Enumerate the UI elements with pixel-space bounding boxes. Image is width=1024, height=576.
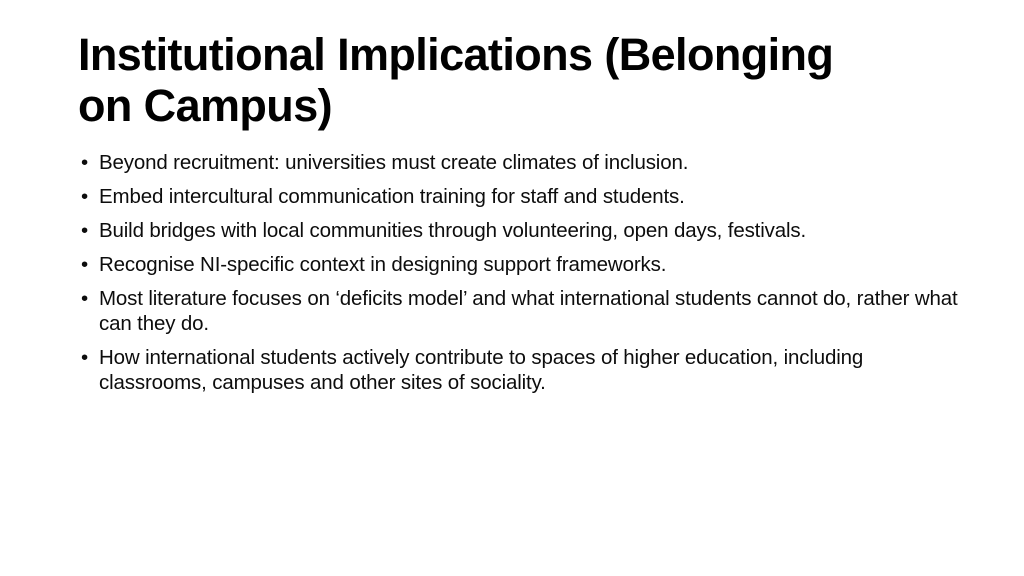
list-item-text: Recognise NI-specific context in designi…: [99, 252, 963, 277]
list-item-text: Most literature focuses on ‘deficits mod…: [99, 286, 963, 336]
bullet-point-icon: •: [81, 286, 88, 311]
list-item: • Embed intercultural communication trai…: [78, 184, 963, 209]
list-item: • Most literature focuses on ‘deficits m…: [78, 286, 963, 336]
bullet-point-icon: •: [81, 184, 88, 209]
bullet-point-icon: •: [81, 150, 88, 175]
list-item-text: Build bridges with local communities thr…: [99, 218, 963, 243]
list-item-text: Beyond recruitment: universities must cr…: [99, 150, 963, 175]
slide-title: Institutional Implications (Belonging on…: [78, 30, 898, 132]
bullet-point-icon: •: [81, 218, 88, 243]
list-item: • Recognise NI-specific context in desig…: [78, 252, 963, 277]
bullet-point-icon: •: [81, 252, 88, 277]
list-item-text: Embed intercultural communication traini…: [99, 184, 963, 209]
list-item: • Build bridges with local communities t…: [78, 218, 963, 243]
bullet-point-icon: •: [81, 345, 88, 370]
bullet-list: • Beyond recruitment: universities must …: [78, 150, 963, 404]
list-item: • Beyond recruitment: universities must …: [78, 150, 963, 175]
list-item: • How international students actively co…: [78, 345, 963, 395]
list-item-text: How international students actively cont…: [99, 345, 963, 395]
presentation-slide: Institutional Implications (Belonging on…: [0, 0, 1024, 576]
